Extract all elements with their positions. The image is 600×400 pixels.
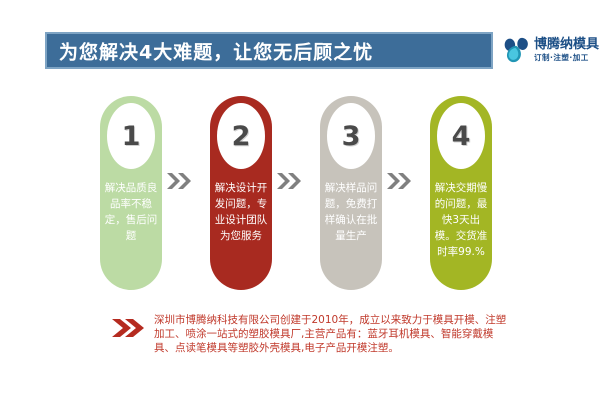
- step-number-3: 3: [320, 103, 382, 169]
- step-number-2: 2: [210, 103, 272, 169]
- step-pill-1[interactable]: 1 解决品质良品率不稳定，售后问题: [100, 96, 162, 290]
- step-description-4: 解决交期慢的问题，最快3天出模。交货准时率99.%: [433, 180, 489, 260]
- step-pill-2[interactable]: 2 解决设计开发问题，专业设计团队为您服务: [210, 96, 272, 290]
- butterfly-droplet-logo-icon: [503, 35, 531, 65]
- step-number-4: 4: [430, 103, 492, 169]
- logo-text: 博腾纳模具 订制·注塑·加工: [534, 38, 599, 62]
- step-description-3: 解决样品问题，免费打样确认在批量生产: [323, 180, 379, 244]
- page-title: 为您解决4大难题，让您无后顾之忧: [59, 37, 373, 64]
- logo-company-name: 博腾纳模具: [534, 38, 599, 51]
- double-chevron-right-icon: [110, 317, 146, 341]
- step-pill-3[interactable]: 3 解决样品问题，免费打样确认在批量生产: [320, 96, 382, 290]
- company-logo: 博腾纳模具 订制·注塑·加工: [503, 29, 595, 71]
- double-chevron-right-icon: [386, 170, 412, 192]
- step-description-1: 解决品质良品率不稳定，售后问题: [103, 180, 159, 244]
- company-intro-text: 深圳市博腾纳科技有限公司创建于2010年，成立以来致力于模具开模、注塑加工、喷涂…: [154, 313, 510, 355]
- logo-tagline: 订制·注塑·加工: [534, 54, 599, 62]
- step-description-2: 解决设计开发问题，专业设计团队为您服务: [213, 180, 269, 244]
- step-number-1: 1: [100, 103, 162, 169]
- company-intro-block: 深圳市博腾纳科技有限公司创建于2010年，成立以来致力于模具开模、注塑加工、喷涂…: [110, 313, 510, 355]
- step-pill-4[interactable]: 4 解决交期慢的问题，最快3天出模。交货准时率99.%: [430, 96, 492, 290]
- double-chevron-right-icon: [166, 170, 192, 192]
- double-chevron-right-icon: [276, 170, 302, 192]
- header-bar: 为您解决4大难题，让您无后顾之忧: [45, 32, 493, 69]
